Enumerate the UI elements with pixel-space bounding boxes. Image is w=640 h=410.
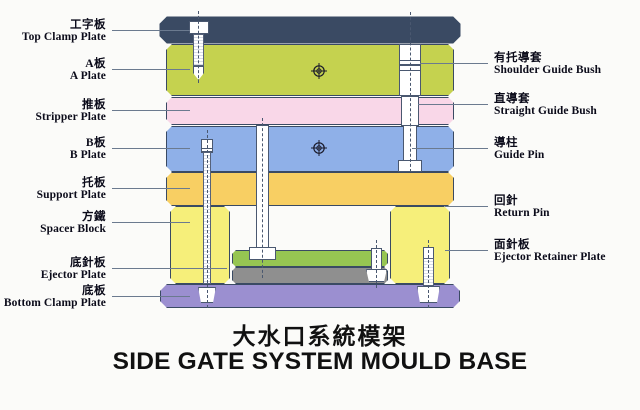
title-block: 大水口系統模架 xyxy=(0,317,640,351)
leader-a-plate xyxy=(112,69,190,70)
label-ejector-plate: 底針板 Ejector Plate xyxy=(41,257,106,281)
guide-pin-centerline xyxy=(410,12,411,172)
return-pin-centerline xyxy=(376,240,377,288)
label-return-pin-en: Return Pin xyxy=(494,207,550,219)
leader-support-plate xyxy=(112,188,190,189)
label-b-plate-zh: B板 xyxy=(70,137,106,149)
part-spacer-block-left xyxy=(170,206,230,284)
leader-ejector-plate xyxy=(112,268,227,269)
leader-return-pin xyxy=(445,206,488,207)
leader-guide-pin xyxy=(412,148,488,149)
label-shoulder-guide-bush-en: Shoulder Guide Bush xyxy=(494,64,601,76)
label-ejector-retainer-plate: 面針板 Ejector Retainer Plate xyxy=(494,239,606,263)
label-support-plate: 托板 Support Plate xyxy=(37,177,106,201)
label-a-plate-en: A Plate xyxy=(70,70,106,82)
leader-ejector-retainer-plate xyxy=(445,250,488,251)
label-b-plate: B板 B Plate xyxy=(70,137,106,161)
label-guide-pin: 導柱 Guide Pin xyxy=(494,137,544,161)
label-bottom-clamp-plate: 底板 Bottom Clamp Plate xyxy=(4,285,106,309)
diagram-canvas: { "title": { "zh": "大水口系統模架", "en": "SID… xyxy=(0,0,640,410)
label-b-plate-en: B Plate xyxy=(70,149,106,161)
label-spacer-block-en: Spacer Block xyxy=(40,223,106,235)
label-ejector-plate-zh: 底針板 xyxy=(41,257,106,269)
label-stripper-plate-zh: 推板 xyxy=(36,99,107,111)
label-guide-pin-zh: 導柱 xyxy=(494,137,544,149)
leader-stripper-plate xyxy=(112,110,190,111)
label-shoulder-guide-bush: 有托導套 Shoulder Guide Bush xyxy=(494,52,601,76)
label-a-plate: A板 A Plate xyxy=(70,58,106,82)
label-top-clamp-plate-en: Top Clamp Plate xyxy=(22,31,106,43)
label-support-plate-zh: 托板 xyxy=(37,177,106,189)
leader-b-plate xyxy=(112,148,190,149)
label-top-clamp-plate-zh: 工字板 xyxy=(22,19,106,31)
label-straight-guide-bush-en: Straight Guide Bush xyxy=(494,105,597,117)
part-spacer-block-right xyxy=(390,206,450,284)
label-shoulder-guide-bush-zh: 有托導套 xyxy=(494,52,601,64)
leader-straight-guide-bush xyxy=(418,104,488,105)
leader-spacer-block xyxy=(112,222,190,223)
title-zh: 大水口系統模架 xyxy=(0,317,640,351)
label-ejector-retainer-plate-en: Ejector Retainer Plate xyxy=(494,251,606,263)
label-return-pin: 回針 Return Pin xyxy=(494,195,550,219)
top-clamp-screw-centerline xyxy=(198,11,199,83)
centering-symbol-b-plate xyxy=(311,140,327,156)
label-bottom-clamp-plate-en: Bottom Clamp Plate xyxy=(4,297,106,309)
ejector-pin-centerline xyxy=(207,130,208,308)
leader-shoulder-guide-bush xyxy=(420,63,488,64)
title-block-en: SIDE GATE SYSTEM MOULD BASE xyxy=(0,348,640,376)
centering-symbol-a-plate xyxy=(311,63,327,79)
label-top-clamp-plate: 工字板 Top Clamp Plate xyxy=(22,19,106,43)
label-stripper-plate: 推板 Stripper Plate xyxy=(36,99,107,123)
label-a-plate-zh: A板 xyxy=(70,58,106,70)
label-spacer-block-zh: 方鐵 xyxy=(40,211,106,223)
label-spacer-block: 方鐵 Spacer Block xyxy=(40,211,106,235)
label-guide-pin-en: Guide Pin xyxy=(494,149,544,161)
label-bottom-clamp-plate-zh: 底板 xyxy=(4,285,106,297)
title-en: SIDE GATE SYSTEM MOULD BASE xyxy=(0,348,640,376)
label-ejector-retainer-plate-zh: 面針板 xyxy=(494,239,606,251)
label-ejector-plate-en: Ejector Plate xyxy=(41,269,106,281)
part-top-clamp-screw-head xyxy=(189,21,209,34)
label-support-plate-en: Support Plate xyxy=(37,189,106,201)
sprue-centerline xyxy=(262,118,263,278)
label-return-pin-zh: 回針 xyxy=(494,195,550,207)
part-ejector-plate xyxy=(232,267,388,284)
leader-bottom-clamp-plate xyxy=(112,296,190,297)
label-straight-guide-bush-zh: 直導套 xyxy=(494,93,597,105)
label-stripper-plate-en: Stripper Plate xyxy=(36,111,107,123)
bottom-screw-centerline xyxy=(428,240,429,308)
label-straight-guide-bush: 直導套 Straight Guide Bush xyxy=(494,93,597,117)
leader-top-clamp-plate xyxy=(112,30,190,31)
